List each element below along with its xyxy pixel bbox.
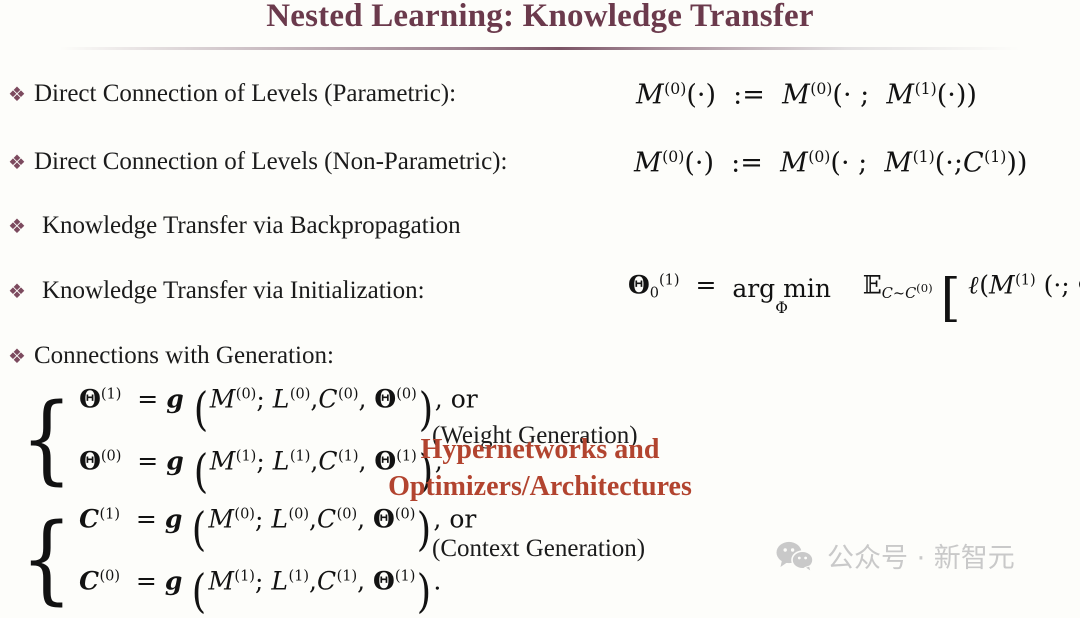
bullet-item-non-parametric: ❖ Direct Connection of Levels (Non-Param… [8,148,507,176]
callout-hypernetworks: Hypernetworks and Optimizers/Architectur… [0,432,1080,506]
system-row: C(0) = g (M(1); L(1),C(1), Θ(1)). [79,564,476,618]
equation-non-parametric: M(0)(·) := M(0)(· ; M(1)(·;C(1))) [634,147,1027,179]
left-curly-brace-icon: { [21,525,73,594]
system-context-generation: { C(1) = g (M(0); L(0),C(0), Θ(0)), or C… [16,502,476,618]
bullet-label: Direct Connection of Levels (Parametric)… [34,80,456,108]
diamond-bullet-icon: ❖ [8,347,34,367]
watermark: 公众号 · 新智元 [775,536,1015,575]
system-row: C(1) = g (M(0); L(0),C(0), Θ(0)), or [79,502,476,556]
bullet-item-parametric: ❖ Direct Connection of Levels (Parametri… [8,80,456,108]
system-row: Θ(1) = g (M(0); L(0),C(0), Θ(0)), or [79,382,478,436]
callout-line-2: Optimizers/Architectures [0,469,1080,506]
bullet-label: Direct Connection of Levels (Non-Paramet… [34,148,507,176]
bullet-label: Knowledge Transfer via Backpropagation [34,212,461,240]
equation-parametric: M(0)(·) := M(0)(· ; M(1)(·)) [636,79,977,111]
diamond-bullet-icon: ❖ [8,153,34,173]
equation-initialization: Θ0(1) = arg min Φ 𝔼C~C(0) [ ℓ(M(1) (·; Φ… [628,268,1080,328]
bullet-item-generation: ❖ Connections with Generation: [8,342,334,370]
diamond-bullet-icon: ❖ [8,282,34,302]
page-title: Nested Learning: Knowledge Transfer [0,0,1080,35]
title-divider [60,47,1020,50]
callout-line-1: Hypernetworks and [0,432,1080,469]
wechat-icon [775,540,815,572]
bullet-item-backprop: ❖ Knowledge Transfer via Backpropagation [8,212,461,240]
label-context-generation: (Context Generation) [432,535,645,563]
bullet-label: Connections with Generation: [34,342,334,370]
bullet-label: Knowledge Transfer via Initialization: [34,277,425,305]
watermark-text: 公众号 · 新智元 [827,536,1015,575]
diamond-bullet-icon: ❖ [8,217,34,237]
bullet-item-initialization: ❖ Knowledge Transfer via Initialization: [8,277,425,305]
diamond-bullet-icon: ❖ [8,85,34,105]
argmin-operator: arg min Φ [732,276,831,316]
slide-root: Nested Learning: Knowledge Transfer ❖ Di… [0,0,1080,599]
